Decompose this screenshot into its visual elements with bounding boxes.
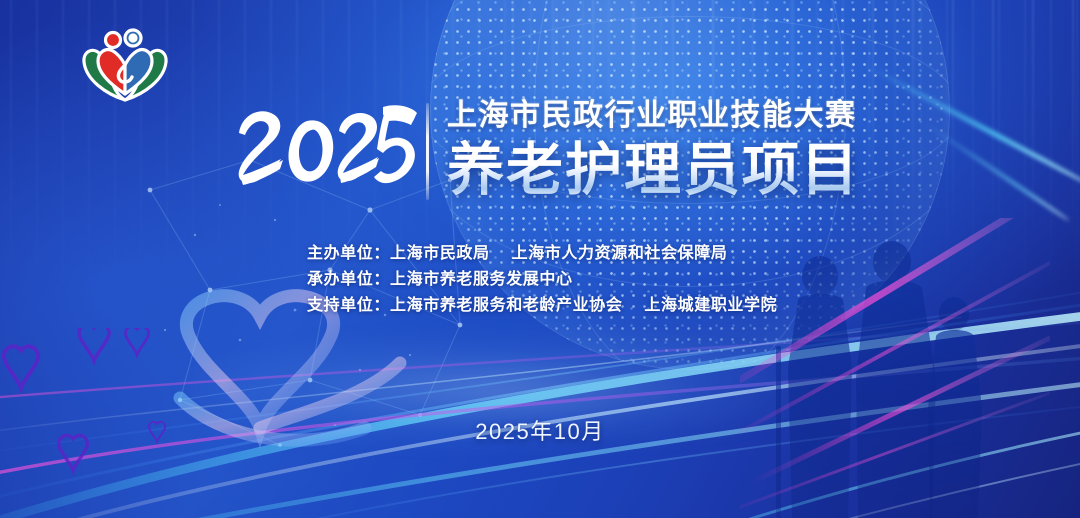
organizer-line-support: 支持单位：上海市养老服务和老龄产业协会上海城建职业学院 bbox=[307, 293, 777, 319]
organizer-name-organizer-1: 上海市养老服务发展中心 bbox=[390, 271, 573, 288]
organizer-line-organizer: 承办单位：上海市养老服务发展中心 bbox=[307, 267, 777, 293]
competition-subtitle: 上海市民政行业职业技能大赛 bbox=[447, 98, 860, 134]
organizer-name-host-2: 上海市人力资源和社会保障局 bbox=[512, 245, 728, 262]
title-block: 上海市民政行业职业技能大赛 养老护理员项目 bbox=[447, 98, 860, 201]
organizer-block: 主办单位：上海市民政局上海市人力资源和社会保障局 承办单位：上海市养老服务发展中… bbox=[307, 241, 777, 319]
competition-title: 养老护理员项目 bbox=[447, 139, 860, 201]
organizer-role-support: 支持单位： bbox=[307, 297, 390, 314]
organizer-name-support-1: 上海市养老服务和老龄产业协会 bbox=[390, 297, 622, 314]
title-divider bbox=[426, 103, 429, 200]
light-beam bbox=[859, 60, 1080, 186]
organizer-line-host: 主办单位：上海市民政局上海市人力资源和社会保障局 bbox=[307, 241, 777, 267]
organizer-role-host: 主办单位： bbox=[307, 245, 390, 262]
organizer-role-organizer: 承办单位： bbox=[307, 271, 390, 288]
organizer-name-host-1: 上海市民政局 bbox=[390, 245, 490, 262]
caregiver-and-elderly-silhouettes bbox=[740, 218, 1050, 518]
civil-affairs-logo bbox=[76, 28, 174, 102]
light-beam bbox=[919, 118, 1070, 222]
year-brush-lettering: 2025 bbox=[233, 101, 418, 201]
event-poster: 2025 上海市民政行业职业技能大赛 养老护理员项目 主办单位：上海市民政局上海… bbox=[0, 0, 1080, 518]
event-date: 2025年10月 bbox=[0, 414, 1080, 446]
organizer-name-support-2: 上海城建职业学院 bbox=[644, 297, 777, 314]
